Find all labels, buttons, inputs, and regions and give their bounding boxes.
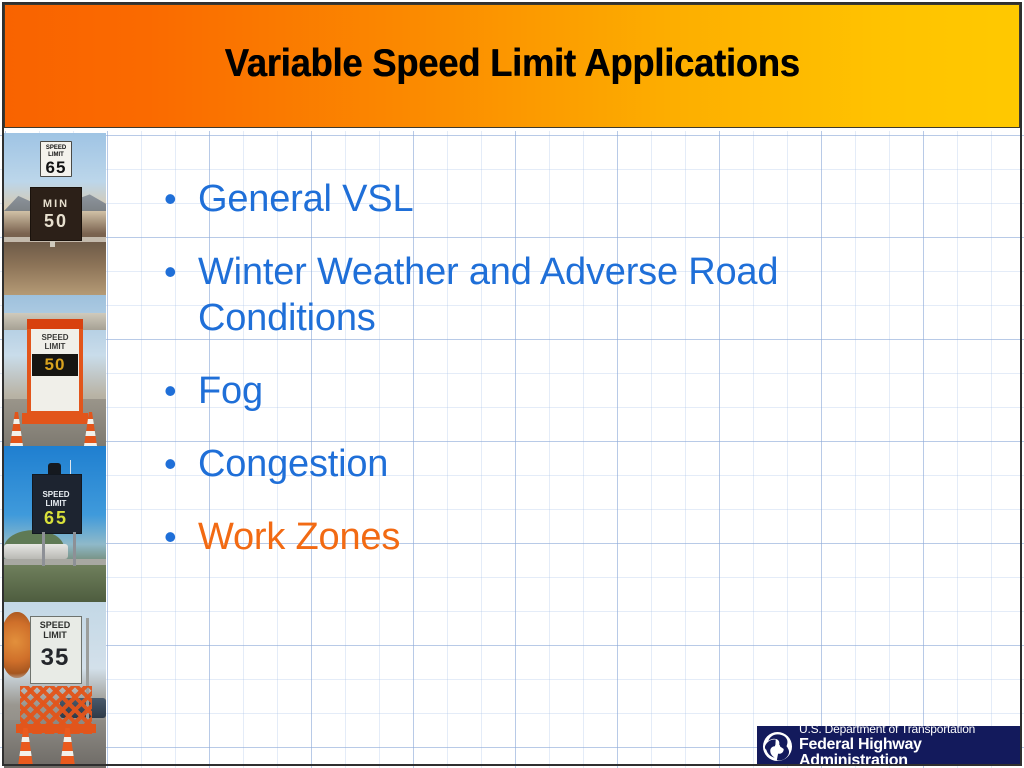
minimum-speed-label: MIN bbox=[31, 188, 81, 211]
dot-triskelion-icon bbox=[762, 731, 793, 762]
bullet-label-work-zones: Work Zones bbox=[198, 514, 950, 560]
speed-limit-value: 50 bbox=[32, 354, 78, 376]
bullet-marker-icon: • bbox=[160, 441, 198, 487]
speed-limit-label: SPEEDLIMIT bbox=[31, 333, 79, 351]
bullet-label-congestion: Congestion bbox=[198, 441, 950, 487]
list-item: • Fog bbox=[160, 368, 950, 414]
speed-limit-value: 65 bbox=[41, 159, 71, 176]
sign-support-legs bbox=[42, 532, 76, 566]
trailer-base bbox=[22, 413, 88, 424]
fhwa-logo-text: U.S. Department of Transportation Federa… bbox=[799, 726, 1020, 766]
list-item: • Congestion bbox=[160, 441, 950, 487]
fhwa-logo: U.S. Department of Transportation Federa… bbox=[757, 726, 1020, 766]
speed-limit-value: 65 bbox=[34, 508, 78, 528]
fhwa-agency-line: Federal Highway Administration bbox=[799, 737, 1020, 767]
minimum-speed-value: 50 bbox=[31, 211, 81, 231]
bullet-marker-icon: • bbox=[160, 176, 198, 222]
bullet-label-winter-weather: Winter Weather and Adverse Road Conditio… bbox=[198, 249, 950, 341]
photo-strip: SPEEDLIMIT 65 MIN 50 SPEEDLIMIT 50 bbox=[4, 133, 106, 768]
grass-shoulder bbox=[4, 565, 106, 602]
minimum-speed-panel: MIN 50 bbox=[30, 187, 82, 241]
speed-limit-value: 35 bbox=[32, 644, 78, 672]
bullet-list: • General VSL • Winter Weather and Adver… bbox=[160, 176, 950, 587]
bullet-label-general-vsl: General VSL bbox=[198, 176, 950, 222]
fhwa-department-line: U.S. Department of Transportation bbox=[799, 726, 1020, 735]
bullet-marker-icon: • bbox=[160, 514, 198, 560]
antenna bbox=[70, 460, 71, 475]
speed-limit-plate: SPEEDLIMIT 65 bbox=[40, 141, 72, 177]
roadbed bbox=[4, 243, 106, 295]
bullet-marker-icon: • bbox=[160, 249, 198, 295]
list-item: • Work Zones bbox=[160, 514, 950, 560]
bullet-label-fog: Fog bbox=[198, 368, 950, 414]
speed-limit-label: SPEEDLIMIT bbox=[32, 620, 78, 640]
list-item: • Winter Weather and Adverse Road Condit… bbox=[160, 249, 950, 341]
bullet-marker-icon: • bbox=[160, 368, 198, 414]
photo-overhead-gantry-variable-speed-limit-sign: SPEEDLIMIT 65 MIN 50 bbox=[4, 133, 106, 295]
photo-portable-trailer-variable-speed-limit-sign: SPEEDLIMIT 50 bbox=[4, 295, 106, 446]
slide-title: Variable Speed Limit Applications bbox=[224, 42, 799, 90]
photo-roadside-variable-speed-limit-sign: SPEEDLIMIT 65 bbox=[4, 446, 106, 602]
list-item: • General VSL bbox=[160, 176, 950, 222]
trailer-sign-top-bar bbox=[27, 319, 83, 329]
photo-work-zone-portable-speed-limit-sign: SPEEDLIMIT 35 bbox=[4, 602, 106, 768]
presentation-slide: Variable Speed Limit Applications SPEEDL… bbox=[0, 0, 1024, 768]
speed-limit-label: SPEEDLIMIT bbox=[34, 490, 78, 508]
slide-title-bar: Variable Speed Limit Applications bbox=[4, 4, 1020, 128]
